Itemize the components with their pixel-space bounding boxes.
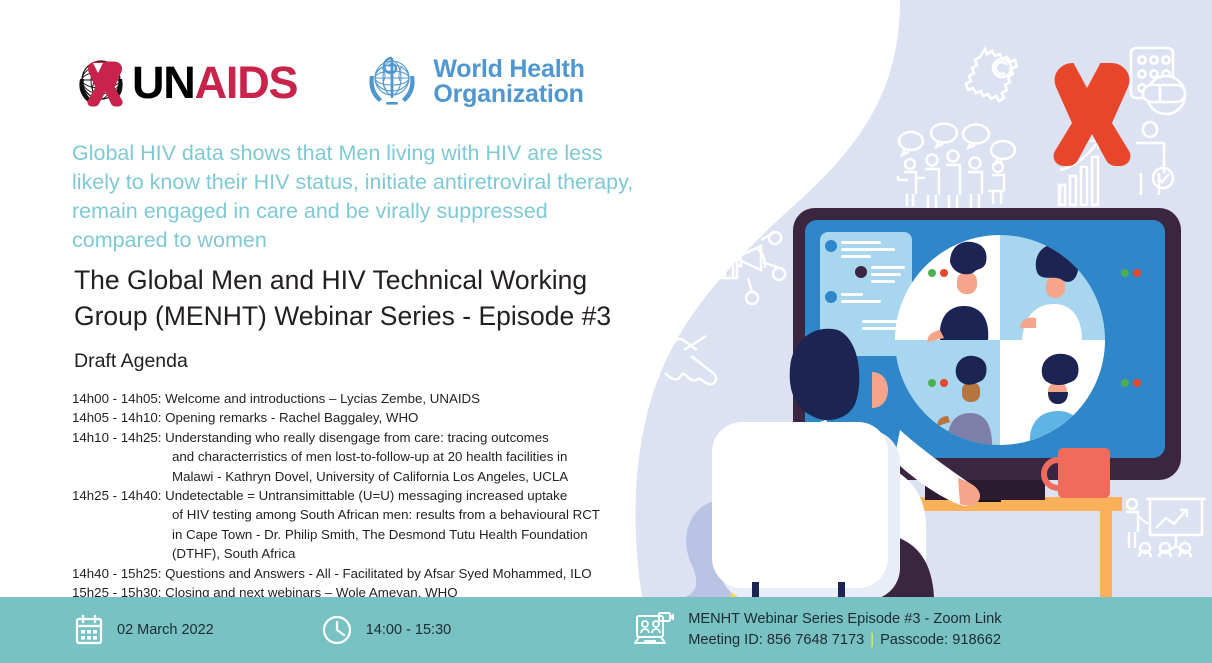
who-logo-line2: Organization — [433, 82, 584, 108]
who-logo: World Health Organization — [361, 52, 584, 112]
footer-date-text: 02 March 2022 — [117, 622, 214, 638]
who-logo-line1: World Health — [433, 57, 584, 83]
desk — [726, 497, 1122, 597]
doctor-megaphone-icon — [720, 231, 785, 304]
pill-blister-icon — [1131, 48, 1185, 114]
agenda-row: 14h05 - 14h10: Opening remarks - Rachel … — [72, 408, 672, 427]
people-talking-icon — [898, 124, 1015, 211]
agenda-row: 14h40 - 15h25: Questions and Answers - A… — [72, 564, 672, 583]
agenda-row: of HIV testing among South African men: … — [72, 505, 672, 524]
webinar-poster: UNAIDS — [0, 0, 1212, 663]
background-curve-shape — [642, 0, 1212, 597]
calendar-icon — [74, 614, 104, 646]
agenda-row: 14h25 - 14h40: Undetectable = Untransimi… — [72, 486, 672, 505]
agenda-row: and characterristics of men lost-to-foll… — [72, 447, 672, 466]
video-conference-icon — [631, 612, 675, 648]
participant-3 — [937, 356, 992, 445]
unaids-logo-un: UN — [132, 57, 195, 108]
agenda-heading: Draft Agenda — [74, 350, 188, 373]
logo-bar: UNAIDS — [72, 52, 585, 112]
agenda-row: 14h00 - 14h05: Welcome and introductions… — [72, 389, 672, 408]
footer-time-text: 14:00 - 15:30 — [366, 622, 451, 638]
footer-zoom-item: MENHT Webinar Series Episode #3 - Zoom L… — [631, 609, 1001, 651]
subheading: Global HIV data shows that Men living wi… — [72, 139, 647, 255]
agenda-description: Questions and Answers - All - Facilitate… — [165, 566, 591, 581]
decorative-tree — [685, 500, 765, 597]
agenda-description: and characterristics of men lost-to-foll… — [172, 449, 567, 464]
unaids-logo-aids: AIDS — [195, 57, 298, 108]
red-aids-ribbon-icon — [1054, 62, 1131, 166]
footer-separator: | — [864, 632, 880, 648]
agenda-description: Understanding who really disengage from … — [165, 430, 549, 445]
agenda-time: 14h40 - 15h25: — [72, 566, 165, 581]
agenda-row: (DTHF), South Africa — [72, 544, 672, 563]
unaids-ribbon-emblem-icon — [72, 55, 130, 109]
chair — [712, 422, 900, 597]
agenda-row: Malawi - Kathryn Dovel, University of Ca… — [72, 467, 672, 486]
footer-date-item: 02 March 2022 — [74, 614, 214, 646]
growth-chart-icon — [1059, 140, 1099, 205]
agenda-time: 14h25 - 14h40: — [72, 488, 165, 503]
participant-4 — [1030, 354, 1084, 445]
footer-passcode: Passcode: 918662 — [880, 632, 1001, 648]
agenda-time: 14h10 - 14h25: — [72, 430, 165, 445]
footer-meeting-id: Meeting ID: 856 7648 7173 — [688, 632, 864, 648]
status-dots — [928, 269, 1141, 387]
agenda-description: in Cape Town - Dr. Philip Smith, The Des… — [172, 527, 588, 542]
who-emblem-icon — [361, 52, 423, 112]
agenda-description: Undetectable = Untransimittable (U=U) me… — [165, 488, 567, 503]
person-check-icon — [1136, 122, 1173, 195]
footer-time-item: 14:00 - 15:30 — [321, 614, 451, 646]
footer-zoom-title: MENHT Webinar Series Episode #3 - Zoom L… — [688, 609, 1001, 630]
page-title-line1: The Global Men and HIV Technical Working — [74, 262, 674, 298]
agenda-description: (DTHF), South Africa — [172, 546, 295, 561]
agenda-time: 14h05 - 14h10: — [72, 410, 165, 425]
unaids-logo: UNAIDS — [72, 55, 297, 109]
agenda-description: Opening remarks - Rachel Baggaley, WHO — [165, 410, 418, 425]
coffee-mug — [1044, 448, 1110, 498]
page-title-line2: Group (MENHT) Webinar Series - Episode #… — [74, 298, 674, 334]
participant-1 — [928, 242, 989, 342]
presentation-audience-icon — [1126, 499, 1206, 557]
agenda-row: in Cape Town - Dr. Philip Smith, The Des… — [72, 525, 672, 544]
page-title: The Global Men and HIV Technical Working… — [74, 262, 674, 334]
participant-2 — [1020, 244, 1082, 340]
agenda-description: Malawi - Kathryn Dovel, University of Ca… — [172, 469, 568, 484]
agenda-time: 14h00 - 14h05: — [72, 391, 165, 406]
viewer-person — [776, 329, 980, 597]
clock-icon — [321, 614, 353, 646]
handshake-icon — [642, 336, 716, 384]
footer-zoom-credentials: Meeting ID: 856 7648 7173|Passcode: 9186… — [688, 630, 1001, 651]
monitor — [793, 208, 1181, 502]
agenda-list: 14h00 - 14h05: Welcome and introductions… — [72, 389, 672, 602]
footer-bar: 02 March 2022 14:00 - 15:30 ME — [0, 597, 1212, 663]
agenda-description: of HIV testing among South African men: … — [172, 507, 600, 522]
condom-packet-icon — [966, 49, 1017, 101]
agenda-row: 14h10 - 14h25: Understanding who really … — [72, 428, 672, 447]
agenda-description: Welcome and introductions – Lycias Zembe… — [165, 391, 480, 406]
